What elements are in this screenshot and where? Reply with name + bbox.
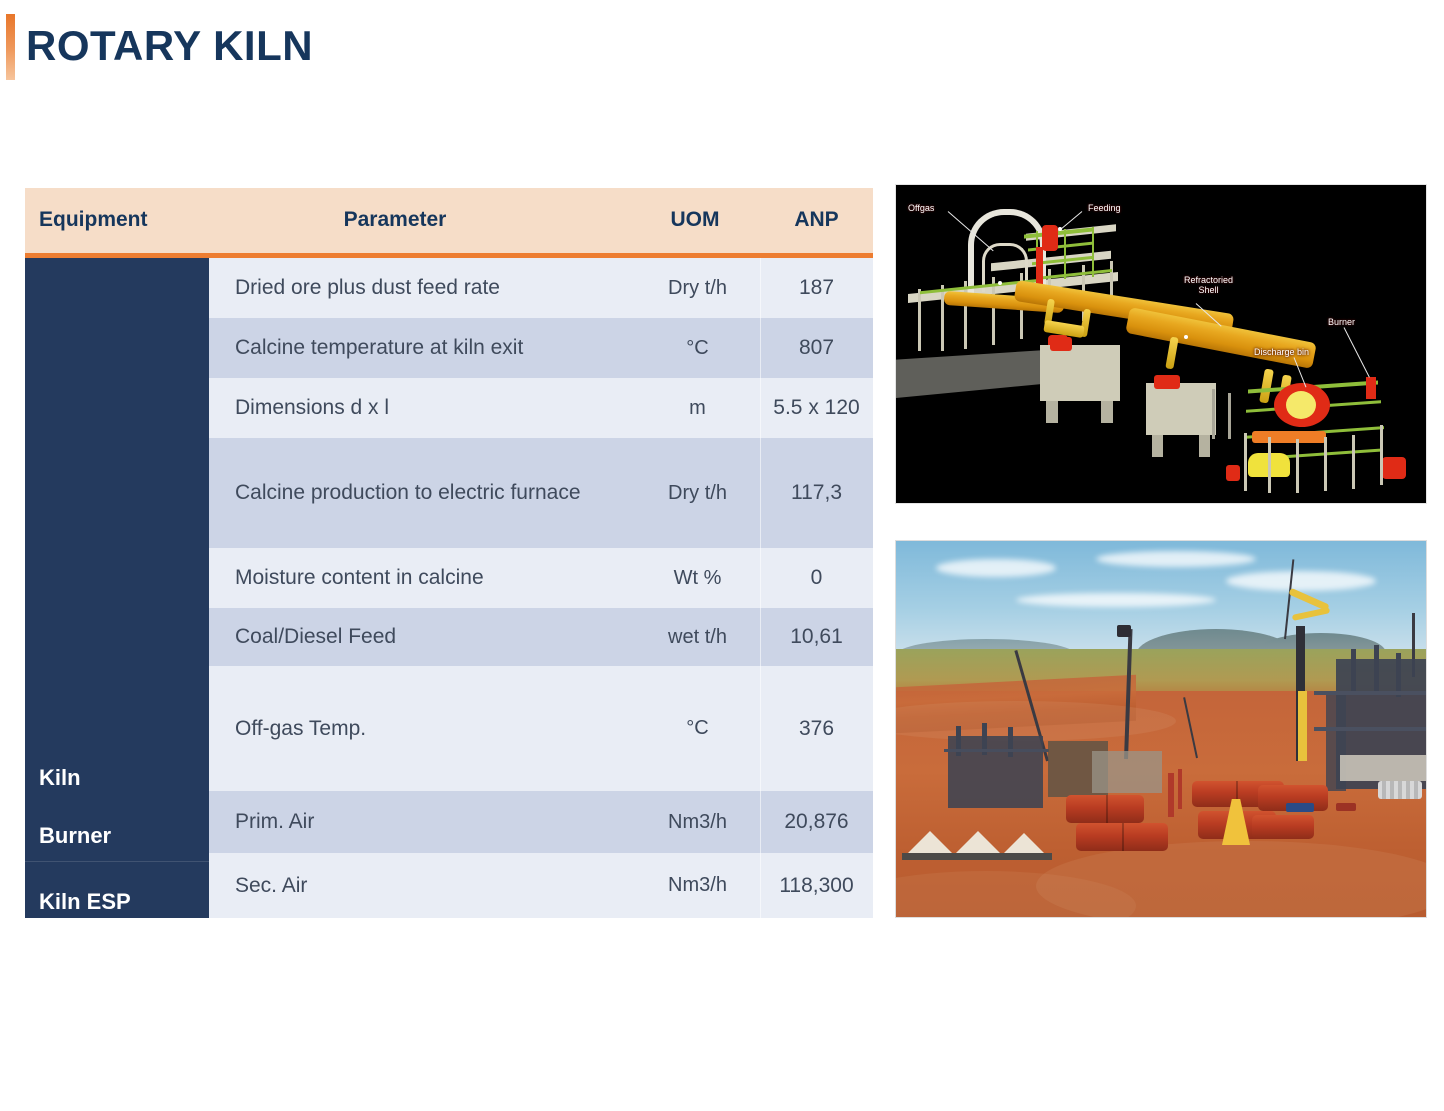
ground-slab: [896, 350, 1046, 398]
column-header-anp: ANP: [760, 208, 873, 232]
cell-parameter: Calcine production to electric furnace: [235, 481, 635, 505]
construction-site-photo: [895, 540, 1427, 918]
equipment-group-air: Air: [25, 861, 209, 1111]
specification-table: Equipment Parameter UOM ANP Kiln Burner …: [25, 188, 873, 918]
equipment-group-kiln: Kiln: [25, 258, 209, 803]
cell-anp: 5.5 x 120: [760, 396, 873, 420]
equipment-group-burner: Burner: [25, 736, 209, 861]
cell-parameter: Dimensions d x l: [235, 396, 635, 420]
kiln-3d-render-image: Offgas Feeding Refractoried Shell Discha…: [895, 184, 1427, 504]
leader-dot: [998, 281, 1002, 285]
cell-anp: 807: [760, 336, 873, 360]
cell-uom: Nm3/h: [635, 874, 760, 897]
cell-uom: °C: [635, 717, 760, 740]
kiln-shell-section: [1066, 795, 1144, 823]
render-label-discharge-bin: Discharge bin: [1254, 347, 1309, 357]
table-row[interactable]: Off-gas Temp. °C 376: [209, 666, 873, 791]
cell-anp: 376: [760, 717, 873, 741]
kiln-shell-section: [1252, 815, 1314, 839]
render-label-feeding: Feeding: [1088, 203, 1121, 213]
table-row[interactable]: Coal/Diesel Feed wet t/h 10,61: [209, 608, 873, 666]
column-header-equipment: Equipment: [39, 208, 148, 232]
table-row[interactable]: Dimensions d x l m 5.5 x 120: [209, 378, 873, 438]
table-body: Dried ore plus dust feed rate Dry t/h 18…: [209, 258, 873, 918]
table-row[interactable]: Dried ore plus dust feed rate Dry t/h 18…: [209, 258, 873, 318]
cell-uom: Dry t/h: [635, 277, 760, 300]
cell-uom: Wt %: [635, 567, 760, 590]
table-row[interactable]: Calcine production to electric furnace D…: [209, 438, 873, 548]
table-row[interactable]: Sec. Air Nm3/h 118,300: [209, 853, 873, 918]
cell-uom: Dry t/h: [635, 482, 760, 505]
cell-parameter: Calcine temperature at kiln exit: [235, 336, 635, 360]
table-header-row: Equipment Parameter UOM ANP: [25, 188, 873, 258]
table-row[interactable]: Prim. Air Nm3/h 20,876: [209, 791, 873, 853]
cell-anp: 187: [760, 276, 873, 300]
cell-parameter: Coal/Diesel Feed: [235, 625, 635, 649]
cell-parameter: Prim. Air: [235, 810, 635, 834]
cell-anp: 10,61: [760, 625, 873, 649]
cell-uom: m: [635, 397, 760, 420]
leader-line: [1344, 327, 1370, 377]
column-header-uom: UOM: [635, 208, 755, 232]
cell-parameter: Sec. Air: [235, 874, 635, 898]
cell-uom: wet t/h: [635, 626, 760, 649]
pipe-stack: [1378, 781, 1422, 799]
cell-uom: °C: [635, 337, 760, 360]
cell-anp: 20,876: [760, 810, 873, 834]
render-label-offgas: Offgas: [908, 203, 934, 213]
render-label-burner: Burner: [1328, 317, 1355, 327]
leader-dot: [1058, 227, 1062, 231]
cell-parameter: Off-gas Temp.: [235, 717, 635, 741]
table-row[interactable]: Calcine temperature at kiln exit °C 807: [209, 318, 873, 378]
cell-uom: Nm3/h: [635, 811, 760, 834]
render-label-refractoried-shell: Refractoried Shell: [1184, 275, 1233, 295]
column-header-parameter: Parameter: [210, 208, 580, 232]
cell-anp: 118,300: [760, 874, 873, 898]
cell-parameter: Moisture content in calcine: [235, 566, 635, 590]
page-title: ROTARY KILN: [26, 22, 313, 70]
leader-dot: [1184, 335, 1188, 339]
equipment-column: Kiln Burner Kiln ESP Air: [25, 258, 209, 918]
cell-parameter: Dried ore plus dust feed rate: [235, 276, 635, 300]
table-row[interactable]: Moisture content in calcine Wt % 0: [209, 548, 873, 608]
cell-anp: 117,3: [760, 481, 873, 505]
title-accent-bar: [6, 14, 15, 80]
cell-anp: 0: [760, 566, 873, 590]
